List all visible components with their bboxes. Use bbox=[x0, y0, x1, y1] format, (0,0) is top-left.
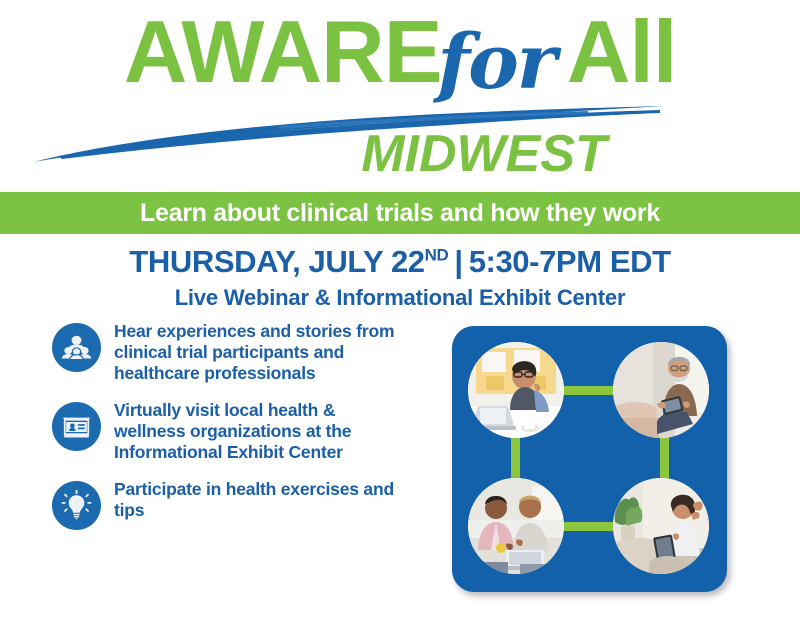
photo-collage bbox=[452, 326, 727, 592]
content-area: Hear experiences and stories from clinic… bbox=[0, 321, 800, 617]
logo-for-text: for bbox=[437, 17, 554, 106]
older-man-with-tablet-photo bbox=[613, 342, 709, 438]
logo-block: AWAREforAll MIDWEST bbox=[0, 0, 800, 192]
list-item-label: Virtually visit local health & wellness … bbox=[114, 400, 399, 463]
feature-list: Hear experiences and stories from clinic… bbox=[52, 321, 402, 546]
list-item: Virtually visit local health & wellness … bbox=[52, 400, 402, 463]
event-date: THURSDAY, JULY 22 bbox=[129, 244, 424, 279]
event-details: THURSDAY, JULY 22ND|5:30-7PM EDT Live We… bbox=[0, 234, 800, 311]
people-group-icon bbox=[52, 323, 101, 372]
event-time: 5:30-7PM EDT bbox=[469, 244, 671, 279]
list-item-label: Participate in health exercises and tips bbox=[114, 479, 399, 521]
list-item-label: Hear experiences and stories from clinic… bbox=[114, 321, 399, 384]
lightbulb-icon bbox=[52, 481, 101, 530]
couple-with-laptop-photo bbox=[468, 478, 564, 574]
exhibit-booth-icon bbox=[52, 402, 101, 451]
woman-at-laptop-photo bbox=[468, 342, 564, 438]
event-date-suffix: ND bbox=[425, 246, 449, 265]
list-item: Hear experiences and stories from clinic… bbox=[52, 321, 402, 384]
event-separator: | bbox=[448, 246, 468, 279]
logo-all-text: All bbox=[567, 2, 676, 101]
event-subtitle: Live Webinar & Informational Exhibit Cen… bbox=[0, 285, 800, 311]
list-item: Participate in health exercises and tips bbox=[52, 479, 402, 530]
logo-aware-text: AWARE bbox=[124, 2, 442, 101]
event-datetime-line: THURSDAY, JULY 22ND|5:30-7PM EDT bbox=[0, 246, 800, 279]
tagline-banner: Learn about clinical trials and how they… bbox=[0, 192, 800, 234]
logo-region-text: MIDWEST bbox=[193, 125, 607, 183]
woman-waving-at-tablet-photo bbox=[613, 478, 709, 574]
tagline-text: Learn about clinical trials and how they… bbox=[140, 199, 660, 228]
logo-wordmark: AWAREforAll bbox=[0, 8, 800, 96]
logo-region: MIDWEST bbox=[0, 124, 800, 184]
